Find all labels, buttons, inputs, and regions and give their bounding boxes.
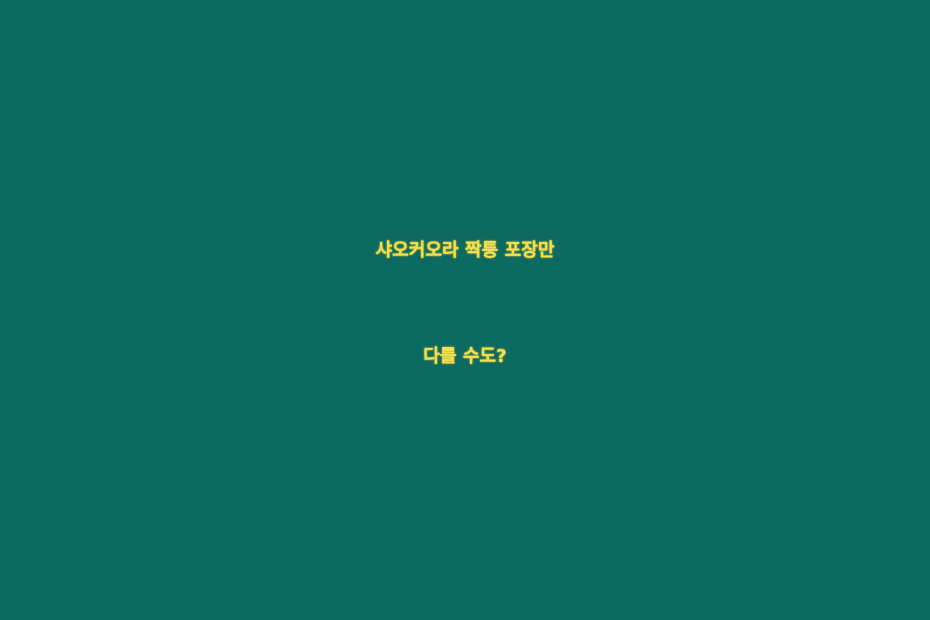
headline-line-2: 다를 수도? <box>0 311 930 403</box>
headline-line-1: 샤오커오라 짝퉁 포장만 <box>0 205 930 297</box>
title-card: 샤오커오라 짝퉁 포장만 다를 수도? <box>0 0 930 620</box>
headline-block: 샤오커오라 짝퉁 포장만 다를 수도? <box>0 205 930 403</box>
